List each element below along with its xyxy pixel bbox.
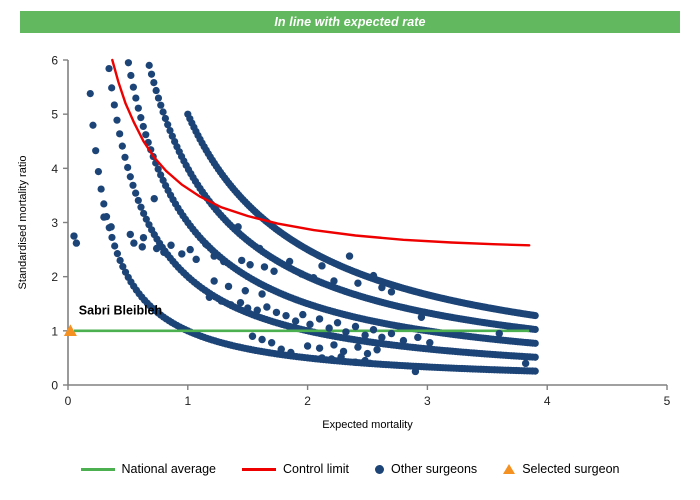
death-contour-group — [87, 59, 539, 375]
data-point-other-surgeon — [270, 268, 277, 275]
data-point-other-surgeon — [129, 182, 136, 189]
data-point-other-surgeon — [388, 288, 395, 295]
data-point-other-surgeon — [342, 328, 349, 335]
data-point-other-surgeon — [412, 368, 419, 375]
data-point-other-surgeon — [220, 258, 227, 265]
data-point-other-surgeon — [532, 368, 539, 375]
data-point-other-surgeon — [192, 256, 199, 263]
data-point-other-surgeon — [318, 262, 325, 269]
data-point-other-surgeon — [107, 223, 114, 230]
data-point-other-surgeon — [282, 312, 289, 319]
data-point-other-surgeon — [130, 239, 137, 246]
data-point-other-surgeon — [286, 258, 293, 265]
data-point-other-surgeon — [157, 102, 164, 109]
data-point-other-surgeon — [400, 337, 407, 344]
data-point-other-surgeon — [532, 354, 539, 361]
data-point-other-surgeon — [242, 287, 249, 294]
data-point-other-surgeon — [364, 350, 371, 357]
legend-item[interactable]: National average — [81, 462, 217, 476]
data-point-other-surgeon — [95, 168, 102, 175]
data-point-other-surgeon — [142, 131, 149, 138]
x-axis-tick-label: 1 — [184, 394, 191, 408]
data-point-other-surgeon — [108, 84, 115, 91]
data-point-other-surgeon — [111, 101, 118, 108]
funnel-plot-page: In line with expected rate 0123456012345… — [0, 0, 700, 500]
data-point-other-surgeon — [370, 272, 377, 279]
data-point-other-surgeon — [92, 147, 99, 154]
data-point-other-surgeon — [178, 250, 185, 257]
data-point-other-surgeon — [113, 117, 120, 124]
data-point-other-surgeon — [132, 94, 139, 101]
data-point-other-surgeon — [130, 84, 137, 91]
legend-item[interactable]: Control limit — [242, 462, 349, 476]
status-banner-label: In line with expected rate — [274, 15, 425, 29]
data-point-other-surgeon — [346, 252, 353, 259]
data-point-other-surgeon — [337, 353, 344, 360]
data-point-other-surgeon — [532, 326, 539, 333]
data-point-other-surgeon — [418, 314, 425, 321]
data-point-other-surgeon — [366, 360, 373, 367]
data-point-other-surgeon — [148, 71, 155, 78]
data-point-other-surgeon — [373, 346, 380, 353]
data-point-other-surgeon — [361, 331, 368, 338]
data-point-other-surgeon — [117, 257, 124, 264]
data-point-other-surgeon — [261, 263, 268, 270]
legend-item-label: Selected surgeon — [522, 462, 619, 476]
data-point-other-surgeon — [254, 307, 261, 314]
data-point-other-surgeon — [249, 333, 256, 340]
data-point-other-surgeon — [352, 323, 359, 330]
data-point-other-surgeon — [352, 359, 359, 366]
data-point-other-surgeon — [108, 234, 115, 241]
data-point-other-surgeon — [370, 326, 377, 333]
data-point-other-surgeon — [378, 334, 385, 341]
data-point-other-surgeon — [532, 340, 539, 347]
data-point-other-surgeon — [70, 232, 77, 239]
data-point-other-surgeon — [127, 173, 134, 180]
data-point-other-surgeon — [354, 343, 361, 350]
data-point-other-surgeon — [522, 360, 529, 367]
data-point-other-surgeon — [160, 249, 167, 256]
y-axis-tick-label: 4 — [51, 162, 58, 176]
data-point-other-surgeon — [316, 315, 323, 322]
data-point-other-surgeon — [140, 123, 147, 130]
x-axis-title: Expected mortality — [322, 419, 413, 431]
data-point-other-surgeon — [121, 154, 128, 161]
data-point-other-surgeon — [151, 195, 158, 202]
data-point-other-surgeon — [119, 143, 126, 150]
data-point-other-surgeon — [378, 284, 385, 291]
data-point-other-surgeon — [258, 336, 265, 343]
status-banner: In line with expected rate — [20, 11, 680, 33]
data-point-other-surgeon — [496, 330, 503, 337]
y-axis-tick-label: 6 — [51, 54, 58, 68]
data-point-other-surgeon — [137, 204, 144, 211]
data-point-other-surgeon — [206, 294, 213, 301]
data-point-other-surgeon — [258, 290, 265, 297]
data-point-other-surgeon — [388, 330, 395, 337]
data-point-other-surgeon — [210, 252, 217, 259]
data-point-other-surgeon — [304, 342, 311, 349]
y-axis-tick-label: 5 — [51, 108, 58, 122]
data-point-other-surgeon — [140, 234, 147, 241]
x-axis-tick-label: 3 — [424, 394, 431, 408]
data-point-other-surgeon — [234, 223, 241, 230]
data-point-other-surgeon — [354, 279, 361, 286]
legend-item-label: Other surgeons — [391, 462, 477, 476]
data-point-other-surgeon — [310, 274, 317, 281]
control-limit-line — [112, 60, 529, 245]
data-point-other-surgeon — [127, 231, 134, 238]
data-point-other-surgeon — [153, 87, 160, 94]
data-point-other-surgeon — [218, 297, 225, 304]
data-point-other-surgeon — [162, 115, 169, 122]
data-point-other-surgeon — [137, 114, 144, 121]
data-point-other-surgeon — [306, 321, 313, 328]
data-point-other-surgeon — [125, 59, 132, 66]
data-point-other-surgeon — [298, 270, 305, 277]
y-axis-title: Standardised mortality ratio — [17, 156, 29, 290]
data-point-other-surgeon — [87, 90, 94, 97]
data-point-other-surgeon — [98, 185, 105, 192]
data-point-other-surgeon — [153, 245, 160, 252]
data-point-other-surgeon — [210, 277, 217, 284]
y-axis-tick-label: 1 — [51, 324, 58, 338]
data-point-other-surgeon — [73, 239, 80, 246]
legend-item[interactable]: Other surgeons — [375, 462, 477, 476]
data-point-other-surgeon — [426, 339, 433, 346]
data-point-other-surgeon — [330, 277, 337, 284]
data-point-other-surgeon — [532, 312, 539, 319]
data-point-other-surgeon — [135, 105, 142, 112]
data-point-other-surgeon — [273, 309, 280, 316]
legend-line-icon — [81, 468, 115, 471]
data-point-other-surgeon — [268, 339, 275, 346]
data-point-other-surgeon — [186, 246, 193, 253]
selected-surgeon-label: Sabri Bleibleh — [79, 304, 162, 318]
data-point-other-surgeon — [89, 122, 96, 129]
legend-dot-icon — [375, 465, 384, 474]
data-point-other-surgeon — [325, 324, 332, 331]
data-point-other-surgeon — [111, 242, 118, 249]
data-point-other-surgeon — [334, 319, 341, 326]
data-point-other-surgeon — [414, 334, 421, 341]
data-point-other-surgeon — [328, 355, 335, 362]
data-point-other-surgeon — [318, 354, 325, 361]
y-axis-tick-label: 3 — [51, 216, 58, 230]
legend-item-label: National average — [122, 462, 217, 476]
chart-container: 0123456012345Expected mortalityStandardi… — [0, 40, 700, 500]
data-point-other-surgeon — [124, 164, 131, 171]
data-point-other-surgeon — [114, 250, 121, 257]
data-point-other-surgeon — [100, 213, 107, 220]
funnel-plot-svg: 0123456012345Expected mortalityStandardi… — [0, 40, 700, 460]
data-point-other-surgeon — [292, 317, 299, 324]
data-point-other-surgeon — [238, 257, 245, 264]
data-point-other-surgeon — [330, 341, 337, 348]
y-axis-tick-label: 2 — [51, 270, 58, 284]
legend-line-icon — [242, 468, 276, 471]
data-point-other-surgeon — [167, 242, 174, 249]
y-axis-tick-label: 0 — [51, 379, 58, 393]
data-point-other-surgeon — [287, 349, 294, 356]
data-point-other-surgeon — [278, 346, 285, 353]
legend-item[interactable]: Selected surgeon — [503, 462, 619, 476]
data-point-other-surgeon — [135, 197, 142, 204]
data-point-other-surgeon — [227, 301, 234, 308]
data-point-other-surgeon — [116, 130, 123, 137]
data-point-other-surgeon — [244, 304, 251, 311]
data-point-other-surgeon — [105, 65, 112, 72]
data-point-other-surgeon — [155, 94, 162, 101]
data-point-other-surgeon — [159, 108, 166, 115]
x-axis-tick-label: 2 — [304, 394, 311, 408]
data-point-other-surgeon — [202, 240, 209, 247]
x-axis-tick-label: 4 — [544, 394, 551, 408]
data-point-other-surgeon — [100, 200, 107, 207]
data-point-other-surgeon — [246, 261, 253, 268]
data-point-other-surgeon — [237, 299, 244, 306]
data-point-other-surgeon — [225, 283, 232, 290]
data-point-other-surgeon — [263, 303, 270, 310]
data-point-other-surgeon — [150, 79, 157, 86]
data-point-other-surgeon — [256, 245, 263, 252]
data-point-other-surgeon — [127, 72, 134, 79]
legend-item-label: Control limit — [283, 462, 349, 476]
data-point-other-surgeon — [146, 62, 153, 69]
data-point-other-surgeon — [132, 190, 139, 197]
other-surgeons-group — [70, 195, 529, 375]
data-point-other-surgeon — [139, 243, 146, 250]
x-axis-tick-label: 0 — [65, 394, 72, 408]
x-axis-tick-label: 5 — [664, 394, 671, 408]
chart-legend: National averageControl limitOther surge… — [0, 455, 700, 483]
legend-triangle-icon — [503, 464, 515, 474]
data-point-other-surgeon — [299, 311, 306, 318]
data-point-other-surgeon — [316, 344, 323, 351]
